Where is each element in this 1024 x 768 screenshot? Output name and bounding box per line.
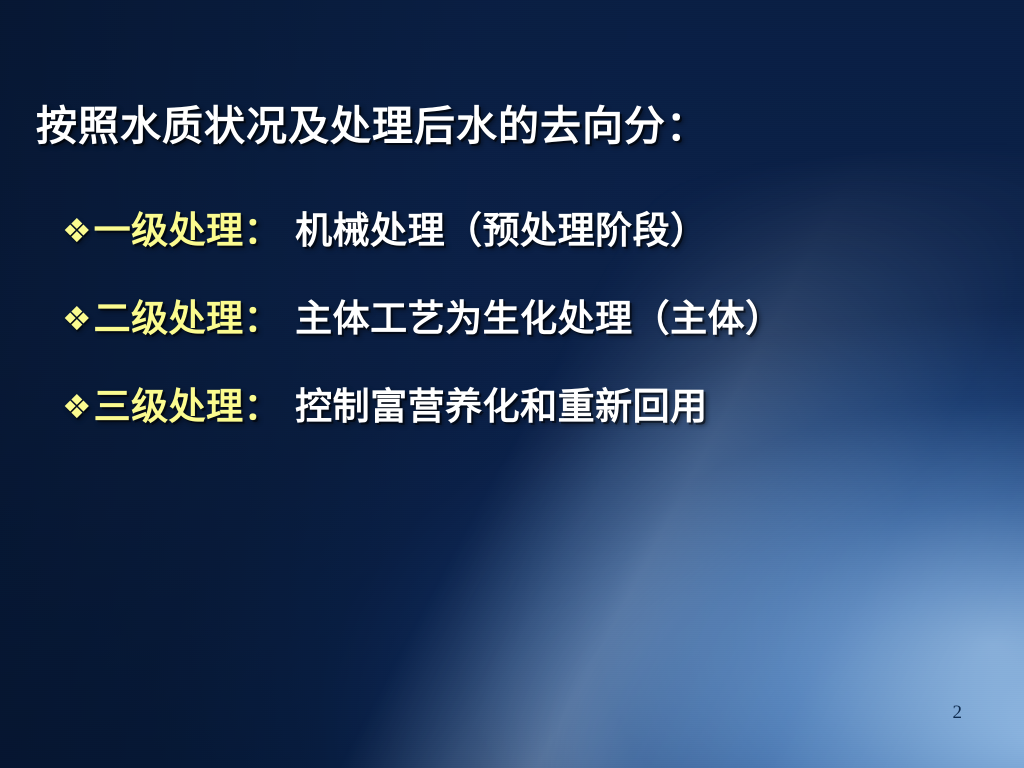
- diamond-bullet-icon: ❖: [62, 294, 92, 344]
- bullet-label: 三级处理：: [94, 382, 282, 432]
- bullet-item-primary-treatment: ❖ 一级处理： 机械处理（预处理阶段）: [62, 206, 962, 294]
- bullet-list: ❖ 一级处理： 机械处理（预处理阶段） ❖ 二级处理： 主体工艺为生化处理（主体…: [62, 206, 962, 470]
- bullet-item-secondary-treatment: ❖ 二级处理： 主体工艺为生化处理（主体）: [62, 294, 962, 382]
- page-number: 2: [953, 702, 963, 724]
- slide-title: 按照水质状况及处理后水的去向分：: [36, 104, 708, 149]
- bullet-body: 主体工艺为生化处理（主体）: [295, 294, 783, 344]
- diamond-bullet-icon: ❖: [62, 382, 92, 432]
- bullet-label: 一级处理：: [94, 206, 282, 256]
- slide-content: 按照水质状况及处理后水的去向分： ❖ 一级处理： 机械处理（预处理阶段） ❖ 二…: [0, 0, 1024, 768]
- presentation-slide: 按照水质状况及处理后水的去向分： ❖ 一级处理： 机械处理（预处理阶段） ❖ 二…: [0, 0, 1024, 768]
- diamond-bullet-icon: ❖: [62, 206, 92, 256]
- bullet-body: 控制富营养化和重新回用: [295, 382, 708, 432]
- bullet-label: 二级处理：: [94, 294, 282, 344]
- bullet-body: 机械处理（预处理阶段）: [295, 206, 708, 256]
- bullet-item-tertiary-treatment: ❖ 三级处理： 控制富营养化和重新回用: [62, 382, 962, 470]
